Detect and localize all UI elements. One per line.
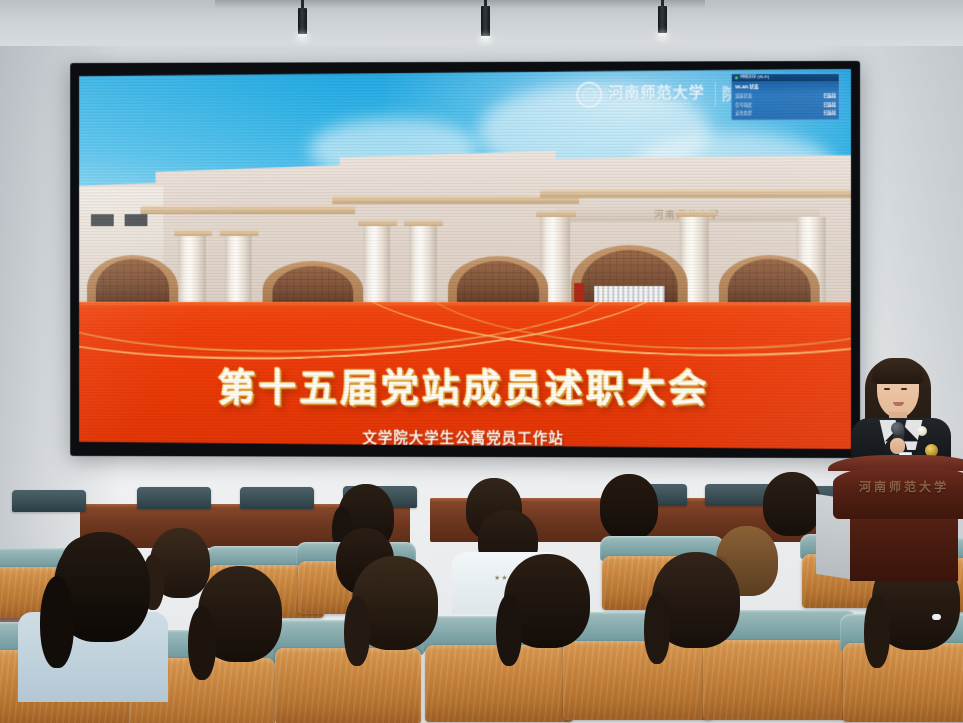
university-name-cn: 河南师范大学	[608, 81, 705, 102]
attendee-front-5	[652, 552, 740, 648]
university-name-en: HENAN NORMAL UNIVERSITY	[608, 102, 705, 107]
pendant-light-2	[481, 0, 490, 39]
gate-capital-2	[220, 230, 258, 236]
lamp-glow	[658, 33, 667, 36]
gate-column-2	[224, 233, 252, 308]
attendee-front-4	[504, 554, 590, 648]
attendee-front-3	[352, 556, 438, 650]
attendee-back-3	[600, 474, 658, 540]
dialog-row: 连接状态 已连接	[735, 93, 836, 99]
gate-column-1	[179, 233, 207, 308]
ponytail	[40, 576, 74, 668]
podium: 河南师范大学	[828, 455, 963, 580]
chair-wood-back	[563, 641, 713, 720]
dialog-row-value: 已连接	[823, 93, 836, 99]
university-gate-building: 河南师范大学	[79, 150, 851, 308]
pendant-light-1	[298, 0, 307, 37]
lamp-body	[481, 6, 490, 36]
dialog-title: 网络连接 (Wi-Fi)	[740, 75, 769, 81]
gate-capital-6	[675, 211, 715, 217]
gate-capital-1	[174, 230, 212, 236]
status-dot-icon	[735, 76, 738, 79]
logo-divider	[715, 82, 716, 106]
folded-seatback-7	[12, 490, 86, 512]
folded-seatback-1	[137, 487, 211, 509]
auditorium-scene: 河南师范大学	[0, 0, 963, 723]
lamp-glow	[298, 34, 307, 37]
banner-text-block: 第十五届党站成员述职大会 文学院大学生公寓党员工作站 2026.3.21	[79, 302, 851, 449]
dialog-row-key: 信号强度	[735, 102, 752, 108]
gate-column-4	[409, 223, 437, 308]
dialog-heading: WLAN 状态	[735, 84, 836, 90]
microphone-head-icon	[891, 422, 904, 435]
dialog-row-key: 连接状态	[735, 94, 752, 100]
banner-main-title: 第十五届党站成员述职大会	[218, 356, 710, 412]
podium-base	[850, 515, 958, 581]
banner-sub-title: 文学院大学生公寓党员工作站	[362, 426, 563, 447]
hair-tie-icon	[932, 614, 941, 620]
dialog-row: 安全类型 已连接	[735, 111, 836, 117]
ponytail	[864, 594, 890, 668]
university-logo: 河南师范大学 HENAN NORMAL UNIVERSITY 院	[576, 81, 738, 107]
ponytail	[644, 592, 670, 664]
dialog-body: WLAN 状态 连接状态 已连接 信号强度 已连接 安全类型 已连接	[732, 81, 839, 120]
dialog-row-key: CPU 使用率	[735, 119, 758, 120]
lamp-glow	[481, 36, 490, 39]
gate-capital-5	[536, 211, 576, 217]
led-screen-content: 河南师范大学	[79, 69, 851, 449]
podium-inscription: 河南师范大学	[833, 478, 963, 495]
attendee-front-2	[198, 566, 282, 662]
dialog-row-value: 13 %	[826, 119, 836, 121]
ponytail	[344, 596, 370, 666]
gate-window-2	[125, 214, 148, 227]
speaker-eye-right	[901, 388, 907, 390]
gate-column-3	[363, 223, 391, 308]
gate-window-1	[91, 214, 114, 227]
dialog-row: 信号强度 已连接	[735, 102, 836, 108]
gate-cornice-right	[540, 190, 851, 198]
dialog-row-value: 已连接	[823, 111, 836, 117]
folded-seatback-2	[240, 487, 314, 509]
screen-status-dialog[interactable]: 网络连接 (Wi-Fi) WLAN 状态 连接状态 已连接 信号强度 已连接	[731, 73, 840, 121]
gate-cornice-left	[140, 206, 355, 214]
lamp-body	[298, 8, 307, 34]
dialog-row-value: 已连接	[823, 102, 836, 108]
ceiling-panel	[215, 0, 705, 9]
corsage-icon	[917, 426, 927, 436]
chair-wood-back	[703, 640, 853, 720]
attendee-front-1	[54, 532, 150, 642]
gate-arch-4	[728, 259, 811, 308]
ponytail	[188, 606, 216, 680]
speaker-hair-top	[872, 358, 924, 384]
gate-arch-1	[96, 259, 169, 308]
podium-front-panel: 河南师范大学	[833, 467, 963, 519]
university-seal-icon	[576, 82, 602, 108]
ponytail	[496, 594, 522, 666]
dialog-row: CPU 使用率 13 %	[735, 119, 836, 121]
led-screen[interactable]: 河南师范大学	[70, 61, 860, 458]
dialog-row-key: 安全类型	[735, 111, 752, 117]
speaker-eye-left	[884, 388, 890, 390]
screen-title-banner: 第十五届党站成员述职大会 文学院大学生公寓党员工作站 2026.3.21	[79, 302, 851, 449]
pendant-light-3	[658, 0, 667, 36]
lamp-rod	[301, 0, 304, 8]
lamp-body	[658, 6, 667, 33]
chair-wood-back	[843, 643, 963, 722]
gate-capital-3	[358, 220, 396, 226]
head	[600, 474, 658, 540]
screen-photo-area: 河南师范大学	[79, 69, 851, 308]
gate-capital-4	[404, 220, 443, 226]
university-logo-text: 河南师范大学 HENAN NORMAL UNIVERSITY	[608, 81, 705, 107]
